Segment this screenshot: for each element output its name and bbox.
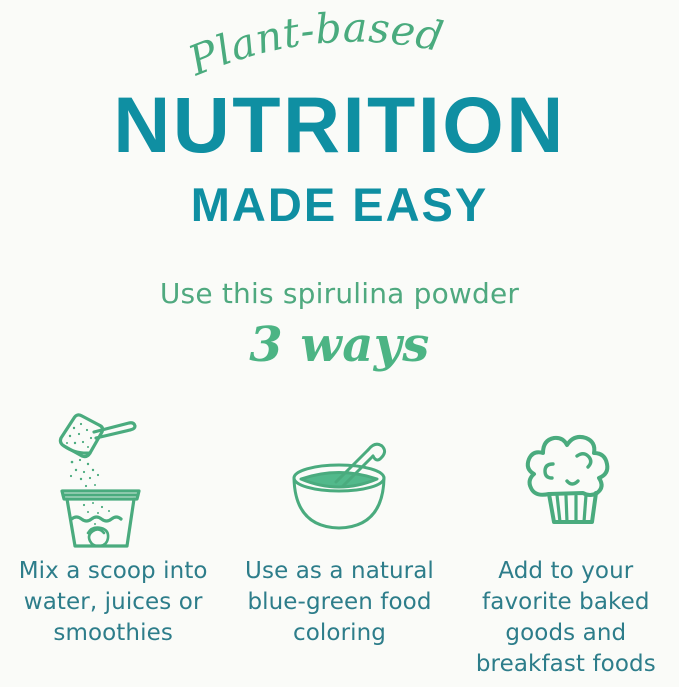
usage-caption-3: Add to your favorite baked goods and bre… bbox=[453, 556, 679, 680]
bowl-with-spoon-icon bbox=[264, 400, 414, 550]
usage-column-3: Add to your favorite baked goods and bre… bbox=[453, 400, 679, 680]
icon-container-3 bbox=[491, 400, 641, 550]
usage-caption-2: Use as a natural blue-green food colorin… bbox=[226, 556, 452, 649]
usage-caption-1: Mix a scoop into water, juices or smooth… bbox=[0, 556, 226, 649]
usage-column-2: Use as a natural blue-green food colorin… bbox=[226, 400, 452, 649]
script-headline-svg: Plant-based bbox=[0, 8, 679, 86]
script-headline-text: Plant-based bbox=[181, 8, 447, 85]
sub-headline: MADE EASY bbox=[0, 180, 679, 230]
main-headline: NUTRITION bbox=[0, 84, 679, 166]
usage-column-1: Mix a scoop into water, juices or smooth… bbox=[0, 400, 226, 649]
muffin-icon bbox=[491, 400, 641, 550]
script-headline: Plant-based bbox=[0, 8, 679, 86]
scoop-and-shaker-cup-icon bbox=[38, 400, 188, 550]
usage-columns: Mix a scoop into water, juices or smooth… bbox=[0, 400, 679, 687]
icon-container-2 bbox=[264, 400, 414, 550]
lede-text: Use this spirulina powder bbox=[0, 278, 679, 310]
poster-root: Plant-based NUTRITION MADE EASY Use this… bbox=[0, 0, 679, 687]
icon-container-1 bbox=[38, 400, 188, 550]
ways-text: 3 ways bbox=[0, 317, 679, 373]
